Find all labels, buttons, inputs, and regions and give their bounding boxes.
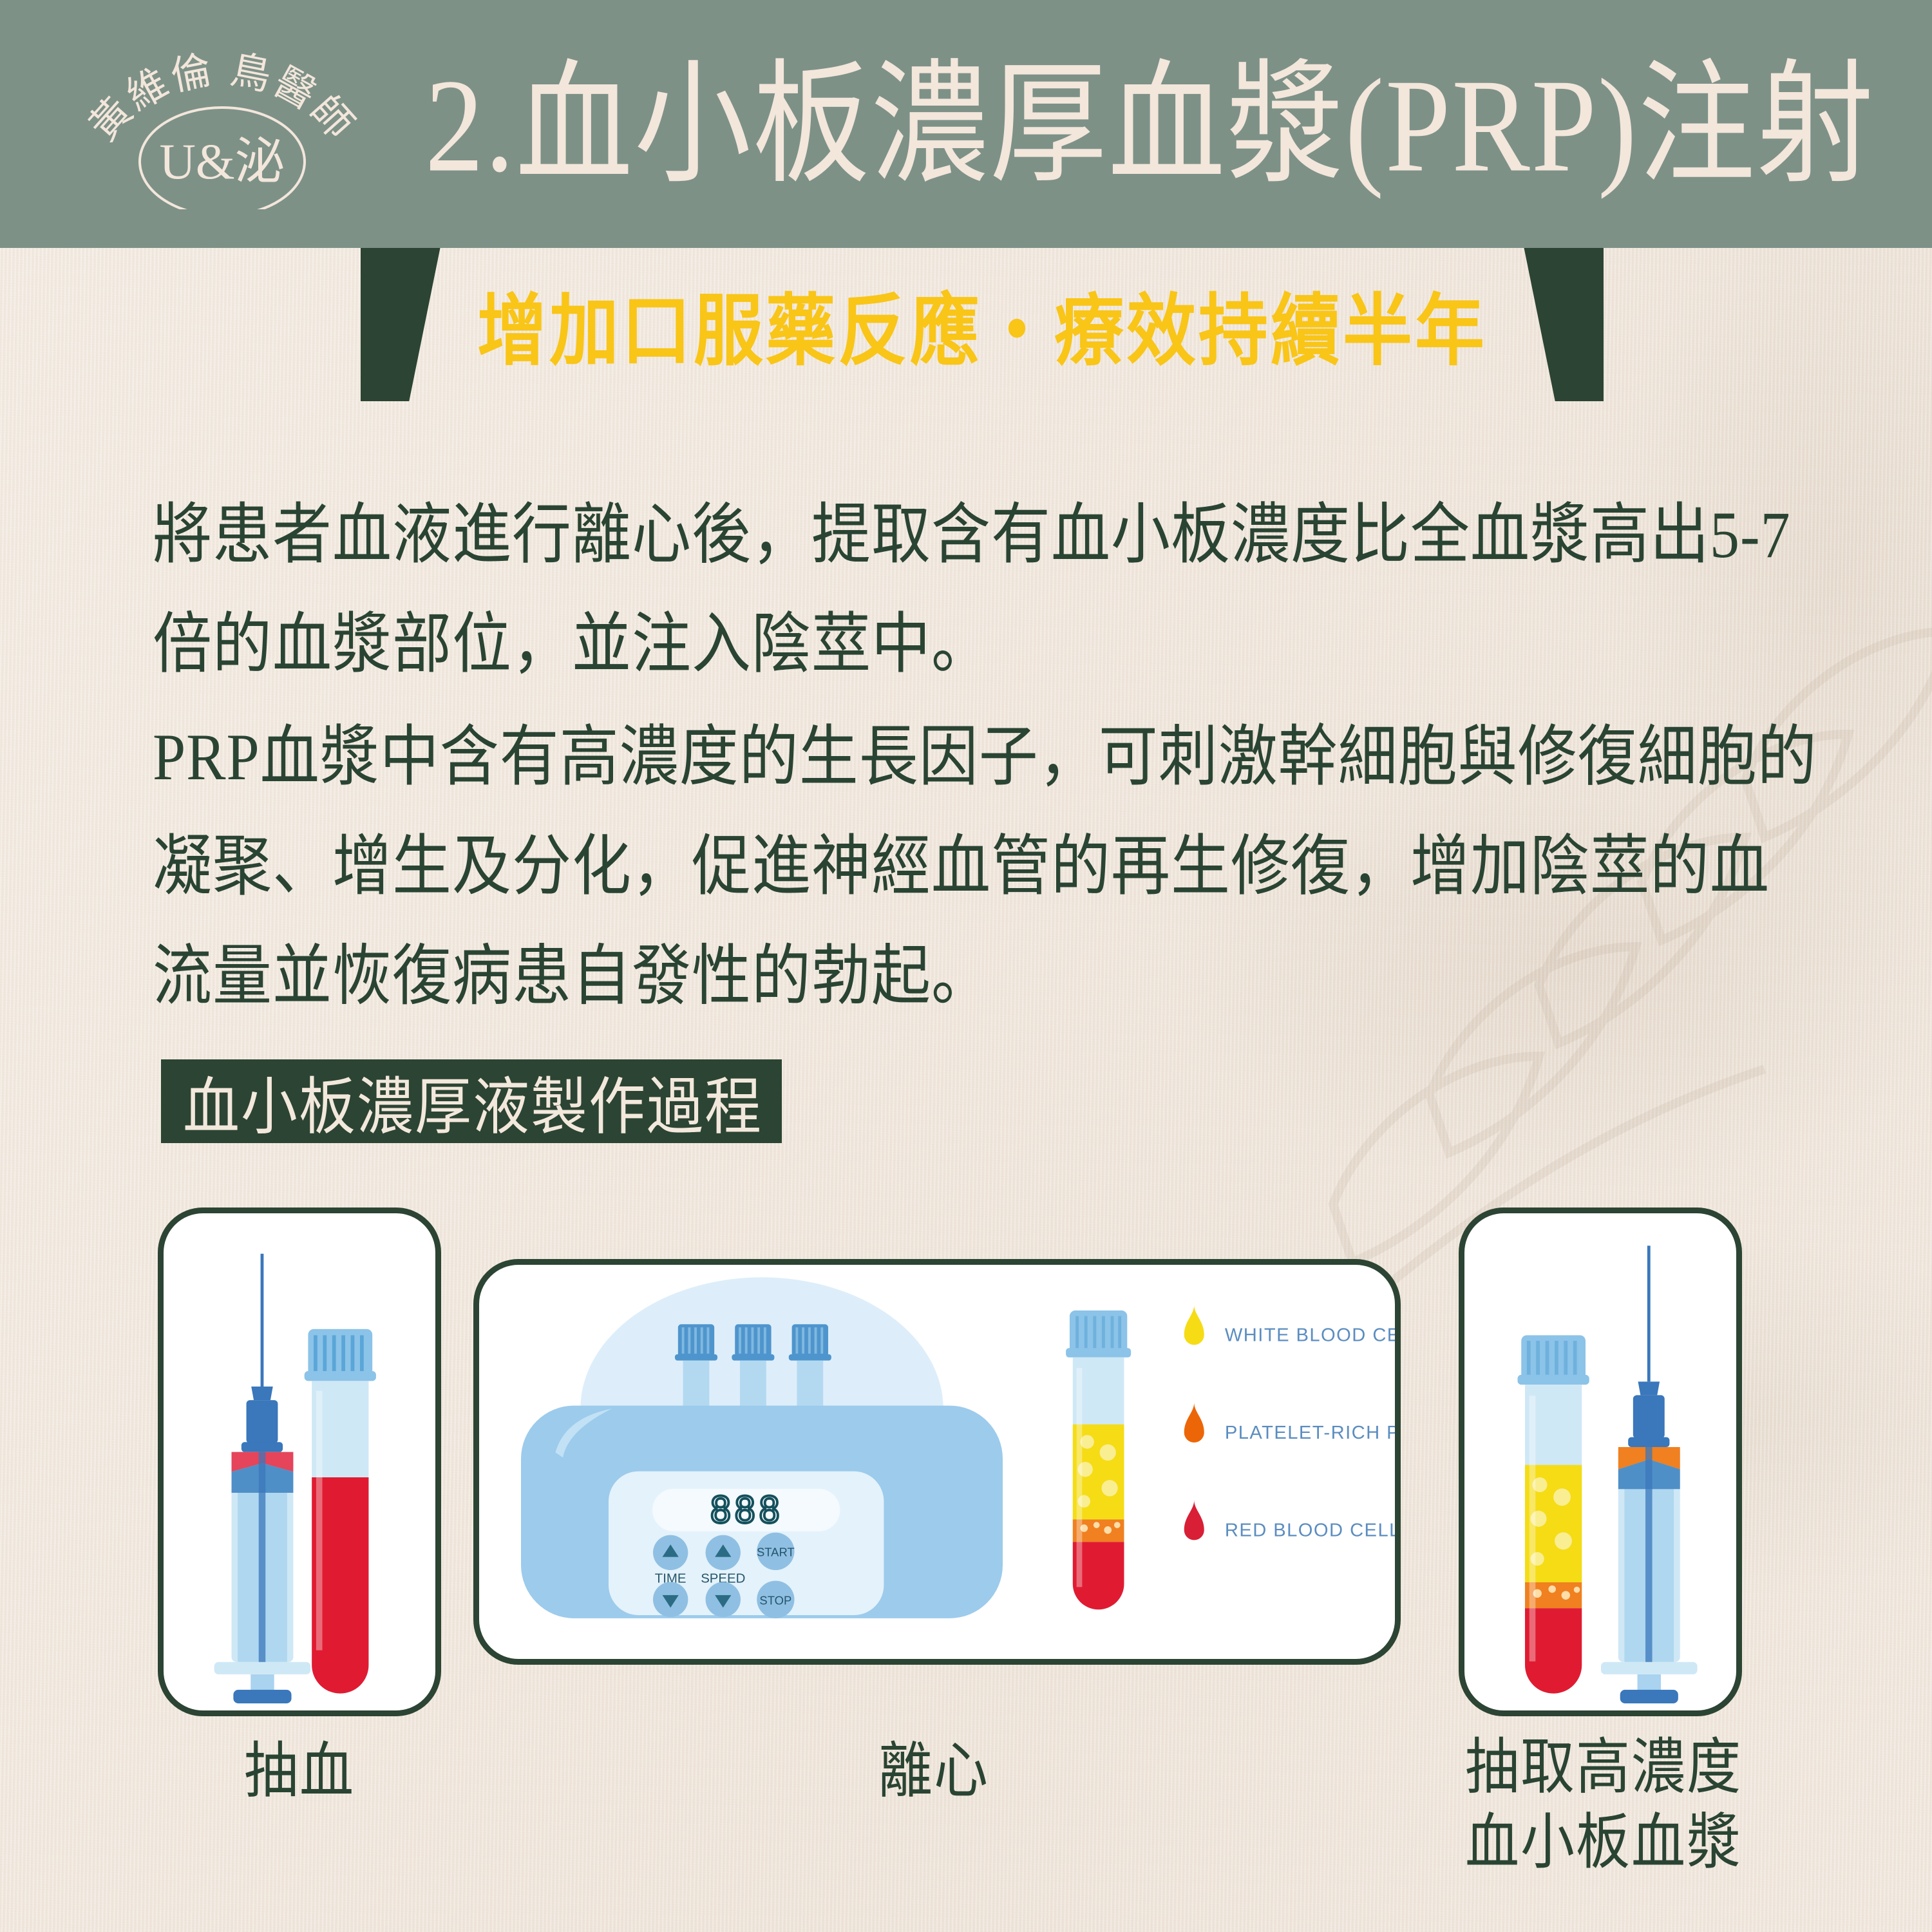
caption-extract-line2: 血小板血漿 xyxy=(1404,1806,1803,1880)
caption-centrifuge: 離心 xyxy=(708,1735,1159,1810)
prp-syringe-icon xyxy=(1601,1245,1698,1703)
logo-graphic: 黃維倫 鳥醫師 U&泌 xyxy=(71,35,374,209)
start-button-label: START xyxy=(757,1546,795,1559)
centrifuge-display: 888 xyxy=(710,1490,782,1531)
infographic-page: 黃維倫 鳥醫師 U&泌 2.血小板濃厚血漿(PRP)注射 增加口服藥反應・療效持… xyxy=(0,0,1932,1932)
caption-extract-line1: 抽取高濃度 xyxy=(1404,1731,1803,1806)
logo-badge-text: U&泌 xyxy=(159,133,285,189)
brand-logo: 黃維倫 鳥醫師 U&泌 xyxy=(71,35,374,209)
prp-tube-icon xyxy=(1517,1335,1589,1693)
page-title: 2.血小板濃厚血漿(PRP)注射 xyxy=(425,36,1861,216)
section-label-text: 血小板濃厚液製作過程 xyxy=(183,1056,762,1146)
section-label-badge: 血小板濃厚液製作過程 xyxy=(161,1059,782,1143)
legend-item-wbc: WHITE BLOOD CELLS xyxy=(1184,1305,1395,1345)
syringe-icon xyxy=(214,1254,311,1703)
subtitle-banner: 增加口服藥反應・療效持續半年 xyxy=(361,248,1604,401)
centrifuge-illustration: 888 START TIME SPEED xyxy=(479,1265,1395,1659)
body-paragraph-2: PRP血漿中含有高濃度的生長因子，可刺激幹細胞與修復細胞的凝聚、增生及分化，促進… xyxy=(153,702,1827,1031)
legend-item-prp: PLATELET-RICH PLASMA xyxy=(1184,1403,1395,1443)
draw-blood-illustration xyxy=(164,1213,435,1710)
panel-draw-blood xyxy=(158,1207,441,1716)
stop-button-label: STOP xyxy=(759,1593,791,1607)
panel-centrifuge: 888 START TIME SPEED xyxy=(473,1259,1401,1665)
blood-tube-icon xyxy=(305,1329,376,1694)
legend-label-prp: PLATELET-RICH PLASMA xyxy=(1225,1423,1395,1443)
svg-text:888: 888 xyxy=(710,1490,782,1531)
caption-extract-prp: 抽取高濃度 血小板血漿 xyxy=(1404,1731,1803,1881)
panel-extract-prp xyxy=(1459,1207,1742,1716)
legend-label-rbc: RED BLOOD CELLS xyxy=(1225,1520,1395,1541)
centrifuge-tubes xyxy=(675,1324,831,1409)
page-header: 黃維倫 鳥醫師 U&泌 2.血小板濃厚血漿(PRP)注射 xyxy=(0,0,1932,248)
centrifuge-machine-icon: 888 START TIME SPEED xyxy=(521,1277,1003,1618)
subtitle-text: 增加口服藥反應・療效持續半年 xyxy=(477,269,1487,381)
body-paragraph-1: 將患者血液進行離心後，提取含有血小板濃度比全血漿高出5-7倍的血漿部位，並注入陰… xyxy=(153,480,1827,699)
blood-component-legend: WHITE BLOOD CELLS PLATELET-RICH PLASMA R… xyxy=(1184,1305,1395,1540)
extract-prp-illustration xyxy=(1464,1213,1736,1710)
separated-blood-tube-icon xyxy=(1066,1311,1131,1609)
caption-draw-blood: 抽血 xyxy=(158,1735,441,1810)
legend-label-wbc: WHITE BLOOD CELLS xyxy=(1225,1325,1395,1346)
legend-item-rbc: RED BLOOD CELLS xyxy=(1184,1500,1395,1540)
